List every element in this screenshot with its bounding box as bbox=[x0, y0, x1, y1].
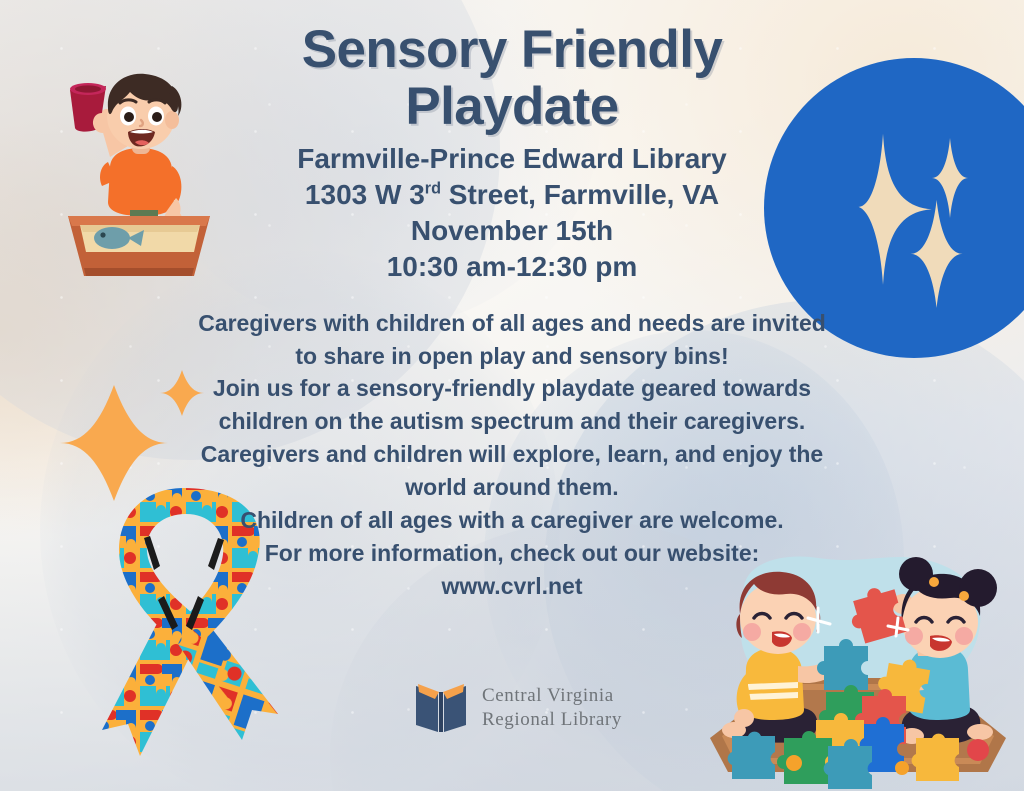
title-line-1: Sensory Friendly bbox=[302, 20, 722, 79]
poster-canvas: Sensory Friendly Playdate Farmville-Prin… bbox=[0, 0, 1024, 791]
toy-ball bbox=[967, 739, 989, 761]
event-time: 10:30 am-12:30 pm bbox=[188, 249, 836, 285]
description-line: to share in open play and sensory bins! bbox=[188, 340, 836, 373]
event-venue: Farmville-Prince Edward Library bbox=[188, 141, 836, 177]
title-line-2: Playdate bbox=[405, 77, 618, 136]
description-line: world around them. bbox=[188, 471, 836, 504]
event-address: 1303 W 3rd Street, Farmville, VA bbox=[188, 177, 836, 213]
description-line: Caregivers and children will explore, le… bbox=[188, 438, 836, 471]
event-date: November 15th bbox=[188, 213, 836, 249]
open-book-icon bbox=[412, 680, 470, 736]
description-line: Join us for a sensory-friendly playdate … bbox=[188, 372, 836, 405]
description-line: children on the autism spectrum and thei… bbox=[188, 405, 836, 438]
library-logo[interactable]: Central Virginia Regional Library bbox=[412, 680, 622, 736]
description-line: Caregivers with children of all ages and… bbox=[188, 307, 836, 340]
hair-bun bbox=[959, 569, 997, 607]
description-line: For more information, check out our webs… bbox=[188, 537, 836, 570]
poster-text-column: Sensory Friendly Playdate Farmville-Prin… bbox=[188, 22, 836, 603]
event-description-block: Caregivers with children of all ages and… bbox=[188, 307, 836, 603]
logo-line-2: Regional Library bbox=[482, 708, 622, 732]
puzzle-piece-blue bbox=[817, 639, 868, 690]
address-pre: 1303 W 3 bbox=[305, 179, 425, 210]
address-ordinal-suffix: rd bbox=[425, 180, 441, 198]
toy-ball bbox=[895, 761, 909, 775]
page-title: Sensory Friendly Playdate bbox=[188, 22, 836, 135]
logo-text: Central Virginia Regional Library bbox=[482, 684, 622, 732]
logo-line-1: Central Virginia bbox=[482, 684, 622, 708]
toy-ball bbox=[786, 755, 802, 771]
hair-bun bbox=[899, 557, 933, 591]
website-link[interactable]: www.cvrl.net bbox=[188, 570, 836, 603]
event-details-block: Farmville-Prince Edward Library 1303 W 3… bbox=[188, 141, 836, 284]
description-line: Children of all ages with a caregiver ar… bbox=[188, 504, 836, 537]
address-post: Street, Farmville, VA bbox=[441, 179, 719, 210]
